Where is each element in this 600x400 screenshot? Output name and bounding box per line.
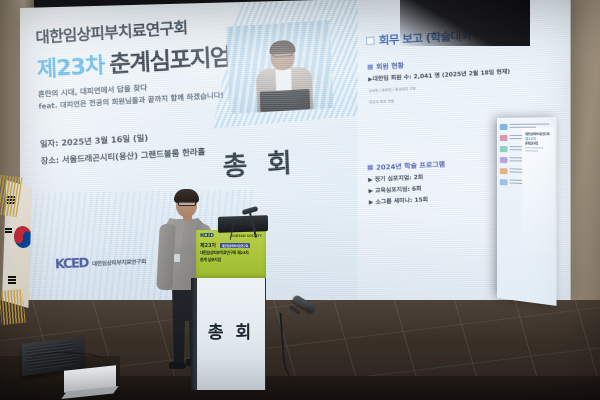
- report-section-members: 회원 현황 ▶대한임 회원 수: 2,041 명 (2025년 2월 18일 현…: [367, 50, 570, 106]
- trigram-bar: [5, 228, 12, 230]
- podium-edition-row: 제23차 대한임상피부치료연구회: [196, 239, 266, 249]
- podium-logo-mark: KCED: [200, 233, 213, 239]
- thumbnail-icon: [500, 168, 508, 174]
- flag-fringe: [0, 289, 26, 325]
- trigram-bar: [8, 279, 16, 281]
- thumbnail-icon: [500, 146, 508, 152]
- side-poster-title: 춘계심포지엄: [525, 141, 551, 145]
- divider: [525, 147, 543, 148]
- podium-badge: 대한임상피부치료연구회: [220, 243, 250, 248]
- podium: KCED KOREAN SOCIETY 제23차 대한임상피부치료연구회 대한임…: [196, 230, 266, 390]
- glasses-icon: [178, 201, 196, 206]
- podium-front-panel: 총 회: [196, 278, 266, 390]
- presenter-name-badge: [174, 254, 180, 262]
- podium-banner-right-text: KOREAN SOCIETY: [231, 234, 262, 238]
- conference-stage-photo: 대한임상피부치료연구회 제23차 춘계심포지엄 혼란의 시대, 대피연에서 답을…: [0, 0, 600, 400]
- trigram-bar: [5, 231, 12, 233]
- thumbnail-icon: [500, 135, 508, 141]
- taeguk-curve: [22, 230, 32, 242]
- main-led-screen: 대한임상피부치료연구회 제23차 춘계심포지엄 혼란의 시대, 대피연에서 답을…: [20, 0, 571, 313]
- korean-flag-banner: [0, 180, 36, 330]
- floor-microphone: [278, 300, 318, 386]
- trigram-bar: [8, 282, 16, 284]
- screen-assembly-label: 총 회: [222, 142, 298, 184]
- side-led-screen: 대한임상피부치료연구회 제23차 춘계심포지엄: [497, 117, 556, 306]
- bullet-square-icon: [366, 36, 375, 45]
- poster-edition: 제23차: [36, 48, 105, 84]
- thumbnail-icon: [500, 157, 508, 163]
- bullet-square-icon: [368, 164, 373, 169]
- thumbnail-icon: [500, 179, 508, 185]
- poster-title: 춘계심포지엄: [109, 37, 231, 79]
- trigram-bar: [8, 276, 16, 278]
- taeguk-symbol-icon: [13, 225, 34, 249]
- divider: [525, 150, 538, 151]
- live-video-feed: [226, 20, 333, 114]
- upper-right-shadow: [400, 0, 530, 46]
- podium-line-2: 춘계 심포지엄: [196, 256, 266, 263]
- poster-meta: 일자: 2025년 3월 16일 (일) 장소: 서울드래곤시티(용산) 그랜드…: [40, 120, 348, 167]
- kced-logo-korean: 대한임상피부치료연구회: [92, 257, 146, 268]
- microphone-cable: [279, 311, 306, 388]
- podium-line-1: 대한임상피부치료연구회 제23차: [196, 249, 266, 256]
- kced-logo-mark: KCED: [55, 256, 88, 273]
- podium-edition: 제23차: [200, 243, 216, 249]
- white-step-box: [64, 365, 116, 392]
- bullet-square-icon: [368, 64, 373, 69]
- podium-confidence-monitor: [218, 215, 268, 233]
- presenter-shoe: [169, 362, 186, 369]
- laptop-icon: [260, 89, 311, 112]
- thumbnail-icon: [500, 124, 508, 130]
- podium-assembly-label: 총 회: [197, 318, 265, 343]
- side-screen-poster: 대한임상피부치료연구회 제23차 춘계심포지엄: [522, 128, 554, 254]
